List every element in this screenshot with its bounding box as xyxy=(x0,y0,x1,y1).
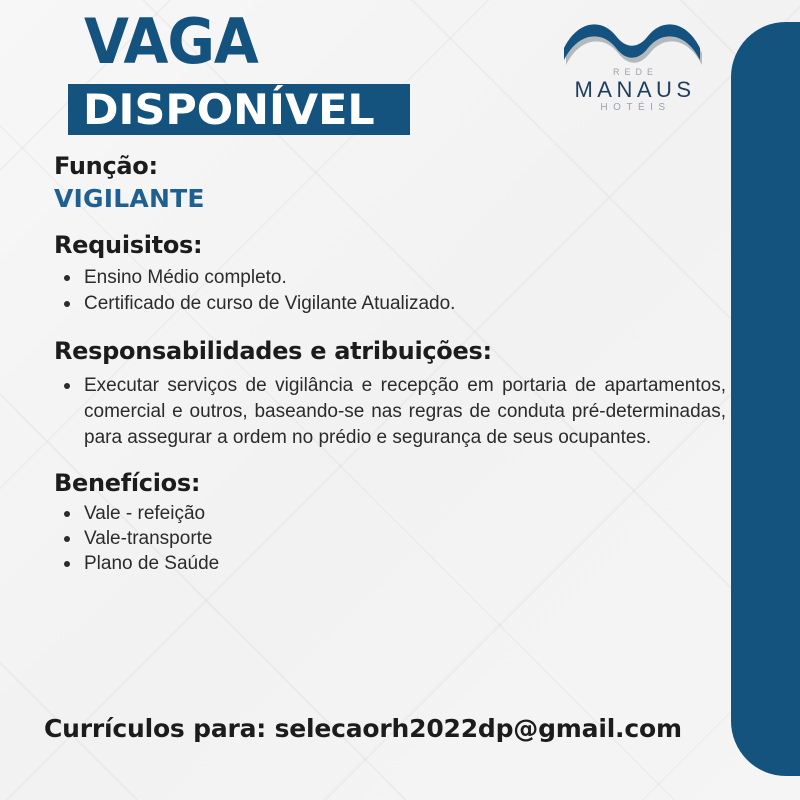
list-item: Vale - refeição xyxy=(62,501,800,526)
list-item: Ensino Médio completo. xyxy=(62,265,800,291)
requisitos-list: Ensino Médio completo. Certificado de cu… xyxy=(0,265,800,317)
section-label-funcao: Função: xyxy=(54,152,800,180)
responsabilidades-list: Executar serviços de vigilância e recepç… xyxy=(0,373,800,451)
wave-logo-icon xyxy=(548,14,718,66)
logo-text-hoteis: HOTÉIS xyxy=(548,102,718,113)
list-item: Vale-transporte xyxy=(62,526,800,551)
list-item: Certificado de curso de Vigilante Atuali… xyxy=(62,291,800,317)
section-label-requisitos: Requisitos: xyxy=(54,231,800,259)
headline-disponivel-band: DISPONÍVEL xyxy=(68,84,410,135)
logo-text-manaus: MANAUS xyxy=(548,77,718,103)
beneficios-list: Vale - refeição Vale-transporte Plano de… xyxy=(0,501,800,576)
headline-disponivel: DISPONÍVEL xyxy=(83,89,375,131)
headline-vaga: VAGA xyxy=(84,11,258,73)
company-logo: REDE MANAUS HOTÉIS xyxy=(548,14,718,110)
list-item: Plano de Saúde xyxy=(62,551,800,576)
section-label-beneficios: Benefícios: xyxy=(54,469,800,497)
job-posting-poster: VAGA DISPONÍVEL REDE MANAUS HOTÉIS Funçã… xyxy=(0,0,800,800)
logo-text-rede: REDE xyxy=(548,67,718,77)
section-label-responsabilidades: Responsabilidades e atribuições: xyxy=(54,337,800,365)
contact-email-line: Currículos para: selecaorh2022dp@gmail.c… xyxy=(44,714,682,743)
list-item: Executar serviços de vigilância e recepç… xyxy=(62,373,726,451)
job-title-value: VIGILANTE xyxy=(54,184,800,213)
poster-content: Função: VIGILANTE Requisitos: Ensino Méd… xyxy=(0,152,800,576)
